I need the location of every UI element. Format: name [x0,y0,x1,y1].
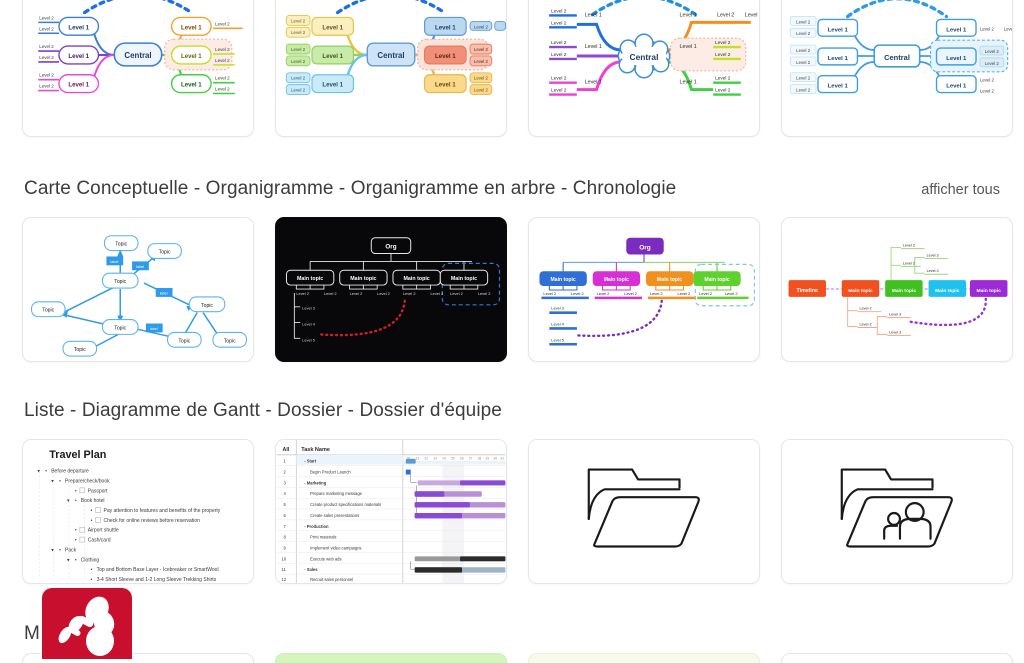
svg-text:Level 3: Level 3 [1004,26,1012,31]
svg-text:Task Name: Task Name [301,447,330,453]
timeline-thumb: Timeline Main topic Main topic Main topi… [782,218,1012,361]
template-card-folder[interactable] [528,439,760,584]
svg-text:Level 2: Level 2 [796,76,811,81]
template-card-gantt[interactable]: All Task Name 20212223 24252627 28293031… [275,439,507,584]
svg-text:Level 4: Level 4 [302,321,316,326]
svg-text:Level 1: Level 1 [68,24,89,31]
svg-text:Cash/card: Cash/card [88,538,111,544]
template-card-mindmap-cloud-center[interactable]: Central Level 1 Level 1 Level 1 Level 1 … [528,0,760,137]
svg-text:Level 2: Level 2 [678,291,691,296]
template-card-partial-green[interactable] [275,653,507,663]
template-row-mindmap: Central Level 1 Level 1 Level 1 Level 1 … [22,0,1012,137]
svg-text:Level 2: Level 2 [903,244,915,248]
svg-text:Level 1: Level 1 [828,56,849,62]
brand-badge-logo-icon [42,588,132,659]
svg-text:Level 2: Level 2 [350,291,363,296]
template-card-partial-cream[interactable] [528,653,760,663]
svg-text:label: label [150,327,158,331]
svg-text:- Production: - Production [304,524,329,529]
svg-text:•: • [45,469,47,475]
svg-text:Topic: Topic [224,338,236,344]
svg-text:label: label [160,291,168,295]
svg-text:Level 1: Level 1 [435,82,456,89]
template-card-mindmap-filled-boxes[interactable]: Central Level 1 Level 1 Level 1 Level 1 … [275,0,507,137]
svg-text:Level 2: Level 2 [715,52,731,58]
svg-text:Main topic: Main topic [350,276,376,282]
svg-text:Level 2: Level 2 [291,18,306,23]
svg-text:Level 3: Level 3 [889,313,901,317]
svg-text:Timeline: Timeline [797,288,819,294]
svg-text:Level 2: Level 2 [796,48,811,53]
svg-text:label: label [136,265,144,269]
svg-text:Level 2: Level 2 [551,76,567,82]
mindmap-pastel-curved-thumb: Central Level 1 Level 1 Level 1 Level 1 … [23,0,253,136]
svg-text:Level 1: Level 1 [181,53,202,60]
svg-text:Level 3: Level 3 [551,306,565,311]
svg-text:Level 2: Level 2 [296,291,309,296]
svg-text:Level 2: Level 2 [474,88,489,93]
svg-text:Topic: Topic [201,303,213,309]
svg-text:Pay attention to features and: Pay attention to features and benefits o… [103,508,220,514]
section-title: M [24,623,40,645]
svg-text:Main topic: Main topic [892,288,917,294]
svg-text:Level 1: Level 1 [181,82,202,89]
svg-text:Org: Org [385,244,396,251]
svg-text:Level 2: Level 2 [39,55,54,60]
mindmap-cloud-center-thumb: Central Level 1 Level 1 Level 1 Level 1 … [529,0,759,136]
svg-text:Level 2: Level 2 [650,291,663,296]
svg-text:Create sales presentations: Create sales presentations [310,513,359,518]
svg-text:Topic: Topic [114,279,126,285]
svg-text:Topic: Topic [115,242,127,248]
svg-text:22: 22 [425,457,429,461]
svg-text:11: 11 [282,567,287,572]
svg-text:•: • [91,577,93,583]
org-chart-colorful-thumb: Org Main topic Main topic Main topic Mai… [529,218,759,361]
svg-text:label: label [110,260,118,264]
svg-text:Level 2: Level 2 [403,291,416,296]
svg-text:Airport shuttle: Airport shuttle [88,528,119,534]
svg-text:24: 24 [442,457,446,461]
svg-text:Prepare/check/book: Prepare/check/book [65,478,110,484]
template-row-list: Travel Plan ▾•Before departure ▾•Prepare… [22,439,1012,584]
svg-text:12: 12 [282,577,287,582]
folder-icon [529,440,759,583]
svg-text:Level 3: Level 3 [745,12,759,18]
svg-text:Level 3: Level 3 [889,330,901,334]
svg-text:•: • [75,557,77,563]
svg-text:Level 2: Level 2 [551,9,567,15]
svg-text:Level 2: Level 2 [291,59,306,64]
svg-text:•: • [91,518,93,524]
svg-text:28: 28 [478,457,482,461]
svg-text:Level 1: Level 1 [68,53,89,60]
svg-text:Recruit sales personnel: Recruit sales personnel [310,577,353,582]
svg-text:Top and Bottom Base Layer - Ic: Top and Bottom Base Layer - Icebreaker o… [97,567,219,573]
travel-plan-thumb: Travel Plan ▾•Before departure ▾•Prepare… [23,440,253,583]
svg-text:Main topic: Main topic [935,288,960,294]
svg-text:26: 26 [460,457,464,461]
svg-text:Topic: Topic [42,308,54,314]
svg-text:Level 2: Level 2 [571,291,584,296]
svg-text:Level 2: Level 2 [215,47,230,52]
svg-text:Level 2: Level 2 [215,21,230,26]
svg-text:Level 2: Level 2 [291,88,306,93]
svg-text:Level 2: Level 2 [860,322,872,326]
svg-text:Create product specifications: Create product specifications materials [310,502,381,507]
svg-text:Level 1: Level 1 [435,53,456,60]
svg-text:•: • [91,567,93,573]
template-card-partial-white2[interactable] [781,653,1013,663]
svg-text:Level 5: Level 5 [302,337,316,342]
show-all-link-concept[interactable]: afficher tous [921,182,1000,198]
svg-text:29: 29 [486,457,490,461]
svg-text:3-4 Short Sleeve and 1-2 Long: 3-4 Short Sleeve and 1-2 Long Sleeve Tre… [97,577,217,583]
svg-text:Level 1: Level 1 [322,24,343,31]
svg-text:Level 2: Level 2 [291,47,306,52]
svg-text:21: 21 [416,457,420,461]
svg-text:Level 5: Level 5 [551,337,565,342]
svg-text:Level 2: Level 2 [985,61,1000,66]
svg-text:Before departure: Before departure [51,469,89,475]
svg-text:Level 2: Level 2 [474,24,489,29]
svg-text:Level 2: Level 2 [551,40,567,46]
svg-text:Level 2: Level 2 [796,60,811,65]
svg-text:Central: Central [124,51,151,60]
section-heading-list: Liste - Diagramme de Gantt - Dossier - D… [24,400,1000,422]
template-card-mindmap-pastel-curved[interactable]: Central Level 1 Level 1 Level 1 Level 1 … [22,0,254,137]
svg-text:Central: Central [630,52,659,62]
svg-text:Level 1: Level 1 [946,27,967,33]
svg-text:Pack: Pack [65,547,77,553]
svg-text:Level 2: Level 2 [597,291,610,296]
mindmap-mono-blue-thumb: Central Level 1 Level 1 Level 1 Level 1 … [782,0,1012,136]
svg-text:Main topic: Main topic [404,276,430,282]
svg-text:Level 1: Level 1 [181,24,202,31]
gantt-thumb: All Task Name 20212223 24252627 28293031… [276,440,506,583]
svg-text:Level 2: Level 2 [715,88,731,94]
svg-text:Level 1: Level 1 [435,24,456,31]
svg-text:Level 2: Level 2 [796,88,811,93]
svg-text:Level 2: Level 2 [860,307,872,311]
svg-text:Level 1: Level 1 [322,53,343,60]
svg-text:Level 2: Level 2 [903,261,915,265]
svg-text:Level 2: Level 2 [291,76,306,81]
svg-text:Level 2: Level 2 [474,76,489,81]
svg-text:Level 2: Level 2 [39,73,54,78]
svg-text:Level 2: Level 2 [796,31,811,36]
svg-text:Level 2: Level 2 [980,78,995,83]
svg-text:Level 1: Level 1 [585,80,602,86]
svg-text:All: All [283,447,290,453]
svg-text:Level 2: Level 2 [215,76,230,81]
svg-text:- Marketing: - Marketing [304,480,326,485]
svg-text:Main topic: Main topic [297,276,323,282]
svg-text:Topic: Topic [114,325,126,331]
svg-text:Level 2: Level 2 [551,52,567,58]
svg-text:Level 1: Level 1 [828,27,849,33]
svg-text:Book hotel: Book hotel [81,498,105,504]
svg-text:Level 1: Level 1 [68,82,89,89]
svg-text:Level 2: Level 2 [715,76,731,82]
svg-text:Level 1: Level 1 [828,84,849,90]
svg-text:Level 2: Level 2 [39,84,54,89]
svg-text:- Sales: - Sales [304,567,318,572]
svg-text:Org: Org [639,245,651,252]
svg-text:Level 2: Level 2 [474,59,489,64]
svg-text:Level 1: Level 1 [680,12,697,18]
svg-text:Level 3: Level 3 [302,306,316,311]
svg-text:Level 1: Level 1 [322,82,343,89]
svg-text:Level 2: Level 2 [980,89,995,94]
svg-text:Level 2: Level 2 [478,291,491,296]
template-row-partial [22,653,1012,663]
svg-text:Level 2: Level 2 [291,30,306,35]
svg-text:Topic: Topic [159,250,171,256]
template-card-org-chart-dark[interactable]: Org Main topic Main topic Main topic Mai… [275,217,507,362]
mindmap-filled-boxes-thumb: Central Level 1 Level 1 Level 1 Level 1 … [276,0,506,136]
svg-text:Level 2: Level 2 [543,291,556,296]
svg-text:•: • [75,488,77,494]
svg-text:Level 2: Level 2 [715,40,731,46]
svg-text:Execute web ads: Execute web ads [310,556,341,561]
svg-text:Central: Central [377,51,404,60]
template-card-travel-plan[interactable]: Travel Plan ▾•Before departure ▾•Prepare… [22,439,254,584]
svg-text:•: • [75,498,77,504]
section-heading-partial: M [24,623,1000,645]
svg-text:Level 2: Level 2 [980,26,995,31]
svg-text:Print materials: Print materials [310,535,336,540]
concept-map-thumb: Topic Topic Topic Topic Topic Topic Topi… [23,218,253,361]
svg-text:•: • [75,528,77,534]
svg-text:Level 2: Level 2 [551,20,567,26]
svg-text:Main topic: Main topic [604,277,629,283]
svg-text:Level 2: Level 2 [717,12,734,18]
svg-text:•: • [75,538,77,544]
svg-text:Level 2: Level 2 [699,291,712,296]
svg-text:Topic: Topic [178,338,190,344]
svg-text:•: • [59,478,61,484]
template-card-timeline[interactable]: Timeline Main topic Main topic Main topi… [781,217,1013,362]
section-title: Liste - Diagramme de Gantt - Dossier - D… [24,400,502,422]
svg-text:Passport: Passport [88,488,108,494]
svg-text:Level 1: Level 1 [946,84,967,90]
svg-text:Level 2: Level 2 [39,26,54,31]
svg-text:25: 25 [451,457,455,461]
org-chart-dark-thumb: Org Main topic Main topic Main topic Mai… [276,218,506,361]
svg-text:Level 2: Level 2 [324,291,337,296]
svg-text:10: 10 [282,556,287,561]
svg-text:30: 30 [494,457,498,461]
svg-text:Level 2: Level 2 [39,44,54,49]
svg-text:Level 2: Level 2 [450,291,463,296]
svg-text:Level 4: Level 4 [551,321,565,326]
svg-text:27: 27 [469,457,473,461]
svg-text:Clothing: Clothing [81,557,100,563]
svg-text:Prepare marketing message: Prepare marketing message [310,491,363,496]
svg-text:Level 2: Level 2 [39,15,54,20]
svg-text:- Start: - Start [304,459,317,464]
svg-text:Level 2: Level 2 [215,87,230,92]
svg-text:Level 2: Level 2 [624,291,637,296]
svg-text:Begin Product Launch: Begin Product Launch [310,470,351,475]
svg-text:Level 3: Level 3 [927,253,939,257]
svg-text:Level 1: Level 1 [585,12,602,18]
svg-text:Level 1: Level 1 [946,56,967,62]
svg-text:Main topic: Main topic [550,277,575,283]
svg-text:Level 2: Level 2 [377,291,390,296]
svg-text:31: 31 [500,457,504,461]
svg-text:Level 2: Level 2 [796,19,811,24]
team-folder-icon [782,440,1012,583]
svg-text:Level 2: Level 2 [430,291,443,296]
svg-text:Central: Central [884,53,910,62]
template-card-org-chart-colorful[interactable]: Org Main topic Main topic Main topic Mai… [528,217,760,362]
svg-text:Level 1: Level 1 [585,44,602,50]
svg-text:Main topic: Main topic [977,288,1002,294]
svg-text:Implement video campaigns: Implement video campaigns [310,545,361,550]
brand-badge[interactable] [42,588,132,659]
section-title: Carte Conceptuelle - Organigramme - Orga… [24,178,676,200]
svg-text:23: 23 [433,457,437,461]
svg-text:Main topic: Main topic [704,277,729,283]
template-card-concept-map[interactable]: Topic Topic Topic Topic Topic Topic Topi… [22,217,254,362]
svg-text:Travel Plan: Travel Plan [49,449,106,461]
svg-text:•: • [59,547,61,553]
svg-text:Level 1: Level 1 [680,80,697,86]
section-heading-concept: Carte Conceptuelle - Organigramme - Orga… [24,178,1000,200]
template-card-mindmap-mono-blue[interactable]: Central Level 1 Level 1 Level 1 Level 1 … [781,0,1013,137]
svg-text:•: • [91,508,93,514]
svg-text:Level 2: Level 2 [725,291,738,296]
template-card-team-folder[interactable] [781,439,1013,584]
svg-text:Main topic: Main topic [657,277,682,283]
svg-text:Level 2: Level 2 [474,47,489,52]
svg-text:Level 2: Level 2 [215,58,230,63]
svg-text:Topic: Topic [74,347,86,353]
svg-text:Level 2: Level 2 [551,88,567,94]
svg-text:Main topic: Main topic [451,276,477,282]
svg-text:Level 2: Level 2 [985,49,1000,54]
svg-text:Main topic: Main topic [848,288,873,294]
template-row-concept: Topic Topic Topic Topic Topic Topic Topi… [22,217,1012,362]
template-gallery-page: Central Level 1 Level 1 Level 1 Level 1 … [0,0,1024,663]
svg-text:Level 3: Level 3 [927,269,939,273]
svg-text:Check for online reviews befor: Check for online reviews before reservat… [103,518,200,524]
svg-text:Level 1: Level 1 [680,44,697,50]
